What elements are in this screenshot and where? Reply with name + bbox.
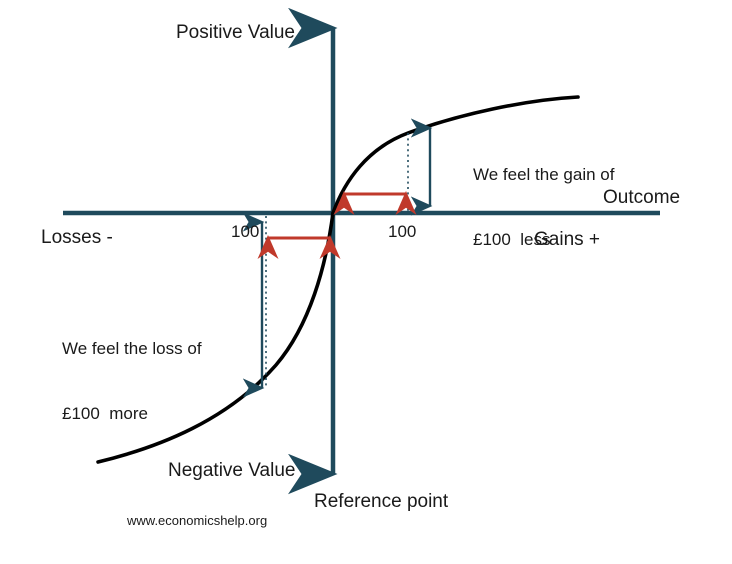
- loss-annotation-line2: £100 more: [62, 403, 202, 425]
- gain-annotation-line1: We feel the gain of: [473, 164, 614, 186]
- positive-value-label: Positive Value: [176, 21, 295, 45]
- loss-annotation: We feel the loss of £100 more: [62, 294, 202, 468]
- diagram-canvas: [0, 0, 732, 564]
- outcome-axis-label: Outcome: [603, 186, 680, 210]
- prospect-theory-diagram: Positive Value Outcome Losses - Gains + …: [0, 0, 732, 564]
- reference-point-label: Reference point: [314, 490, 448, 514]
- losses-label: Losses -: [41, 226, 113, 250]
- loss-annotation-line1: We feel the loss of: [62, 338, 202, 360]
- gain-annotation-line2: £100 less: [473, 229, 614, 251]
- loss-tick-label: 100: [231, 221, 259, 243]
- gain-tick-label: 100: [388, 221, 416, 243]
- site-credit: www.economicshelp.org: [127, 513, 267, 530]
- gain-annotation: We feel the gain of £100 less: [473, 120, 614, 294]
